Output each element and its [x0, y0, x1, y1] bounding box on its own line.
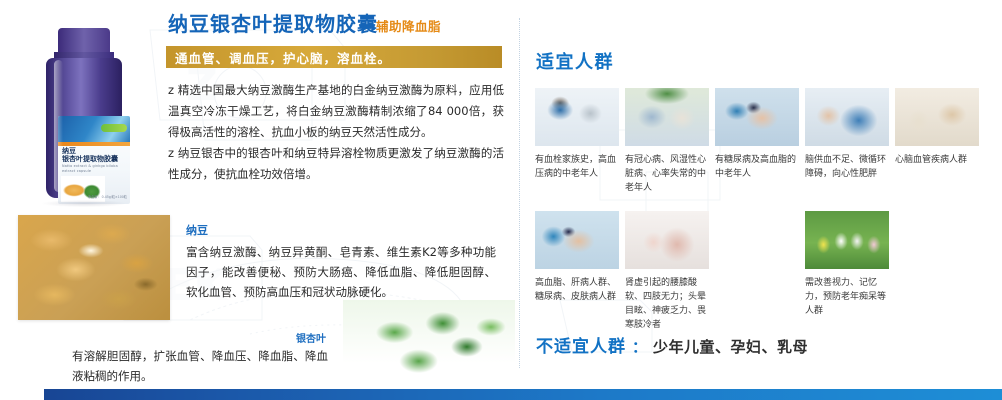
product-bottle-image: 纳豆 银杏叶提取物胶囊 Natto extract & ginkgo bilob…	[36, 28, 132, 200]
suitable-item: 需改善视力、记忆力，预防老年痴呆等人群	[805, 211, 889, 332]
page-title: 纳豆银杏叶提取物胶囊	[168, 8, 378, 37]
glucose-meter-finger-photo	[535, 211, 619, 269]
natto-beans-photo	[18, 215, 170, 320]
ginkgo-leaves-photo	[343, 300, 515, 390]
doctor-blood-pressure-photo	[535, 88, 619, 146]
suitable-caption: 脑供血不足、微循环障碍，向心性肥胖	[805, 153, 889, 181]
bottle-label: 纳豆 银杏叶提取物胶囊 Natto extract & ginkgo bilob…	[58, 116, 130, 204]
not-suitable-label: 不适宜人群	[536, 332, 626, 357]
benefits-banner: 通血管、调血压，护心脑，溶血栓。	[166, 46, 502, 68]
natto-ingredient-block: 纳豆 富含纳豆激酶、纳豆异黄酮、皂青素、维生素K2等多种功能因子，能改善便秘、预…	[186, 222, 496, 302]
column-divider	[519, 18, 520, 368]
benefits-banner-text: 通血管、调血压，护心脑，溶血栓。	[166, 48, 391, 67]
suitable-item: 脑供血不足、微循环障碍，向心性肥胖	[805, 88, 889, 195]
bottle-label-stripe	[58, 142, 130, 146]
description-paragraph-2: z 纳豆银杏中的银杏叶和纳豆特异溶栓物质更激发了纳豆激酶的活性成分，使抗血栓功效…	[168, 143, 504, 185]
ginkgo-text: 有溶解胆固醇，扩张血管、降血压、降血脂、降血液粘稠的作用。	[72, 346, 328, 386]
bottle-cap	[58, 28, 110, 54]
product-description: z 精选中国最大纳豆激酶生产基地的白金纳豆激酶为原料，应用低温真空冷冻干燥工艺，…	[168, 80, 504, 185]
ginkgo-tag: 银杏叶	[296, 330, 326, 345]
suitable-heading: 适宜人群	[536, 48, 614, 74]
not-suitable-line: 不适宜人群 ： 少年儿童、孕妇、乳母	[536, 332, 808, 357]
lower-back-pain-photo	[625, 211, 709, 269]
right-column: 适宜人群 有血栓家族史，高血压病的中老年人 有冠心病、风湿性心脏病、心率失常的中…	[533, 0, 998, 385]
suitable-caption: 高血脂、肝病人群、糖尿病、皮肤病人群	[535, 276, 619, 304]
footer-bar	[0, 389, 1002, 400]
bottle-label-latin: Natto extract & ginkgo biloba extract ca…	[62, 164, 128, 173]
blank-photo	[715, 211, 799, 269]
bottle-label-name-line2: 银杏叶提取物胶囊	[62, 155, 128, 163]
elderly-couple-chest-pain-photo	[625, 88, 709, 146]
page-subtitle: 辅助降血脂	[376, 16, 441, 35]
suitable-item: 有血栓家族史，高血压病的中老年人	[535, 88, 619, 195]
left-column: 纳豆 银杏叶提取物胶囊 Natto extract & ginkgo bilob…	[0, 0, 515, 385]
not-suitable-colon: ：	[626, 336, 653, 357]
seniors-exercising-photo	[805, 211, 889, 269]
blood-glucose-test-photo	[715, 88, 799, 146]
suitable-caption: 有血栓家族史，高血压病的中老年人	[535, 153, 619, 181]
bottle-highlight	[54, 60, 63, 192]
bottle-label-net-weight: 净含量： 0.45g/粒×100粒	[88, 195, 127, 199]
suitable-row-2: 高血脂、肝病人群、糖尿病、皮肤病人群 肾虚引起的腰膝酸软、四肢无力；头晕目眩、神…	[535, 211, 997, 332]
bottle-shadow	[42, 200, 126, 207]
health-food-badge	[101, 124, 127, 132]
suitable-item: 高血脂、肝病人群、糖尿病、皮肤病人群	[535, 211, 619, 332]
suitable-groups-grid: 有血栓家族史，高血压病的中老年人 有冠心病、风湿性心脏病、心率失常的中老年人 有…	[535, 88, 997, 332]
suitable-caption: 有冠心病、风湿性心脏病、心率失常的中老年人	[625, 153, 709, 195]
not-suitable-value: 少年儿童、孕妇、乳母	[653, 336, 808, 357]
natto-text: 富含纳豆激酶、纳豆异黄酮、皂青素、维生素K2等多种功能因子，能改善便秘、预防大肠…	[186, 242, 496, 302]
suitable-item: 有冠心病、风湿性心脏病、心率失常的中老年人	[625, 88, 709, 195]
suitable-caption: 肾虚引起的腰膝酸软、四肢无力；头晕目眩、神疲乏力、畏寒肢冷者	[625, 276, 709, 332]
suitable-item: 有糖尿病及高血脂的中老年人	[715, 88, 799, 195]
suitable-caption: 需改善视力、记忆力，预防老年痴呆等人群	[805, 276, 889, 318]
suitable-item-spacer	[715, 211, 799, 332]
description-paragraph-1: z 精选中国最大纳豆激酶生产基地的白金纳豆激酶为原料，应用低温真空冷冻干燥工艺，…	[168, 80, 504, 143]
stethoscope-abdomen-photo	[805, 88, 889, 146]
bottle-label-name-line1: 纳豆	[62, 147, 128, 155]
suitable-row-1: 有血栓家族史，高血压病的中老年人 有冠心病、风湿性心脏病、心率失常的中老年人 有…	[535, 88, 997, 195]
bottle-label-name: 纳豆 银杏叶提取物胶囊	[62, 147, 128, 163]
product-brochure-page: Z OUTEK 纳豆 银杏叶提取物胶囊 Natto extract & gink…	[0, 0, 1002, 400]
suitable-item: 肾虚引起的腰膝酸软、四肢无力；头晕目眩、神疲乏力、畏寒肢冷者	[625, 211, 709, 332]
elderly-woman-dizzy-photo	[895, 88, 979, 146]
suitable-item: 心脑血管疾病人群	[895, 88, 979, 195]
suitable-caption: 有糖尿病及高血脂的中老年人	[715, 153, 799, 181]
suitable-caption: 心脑血管疾病人群	[895, 153, 979, 167]
natto-tag: 纳豆	[186, 222, 496, 238]
footer-bar-left-gap	[0, 389, 44, 400]
